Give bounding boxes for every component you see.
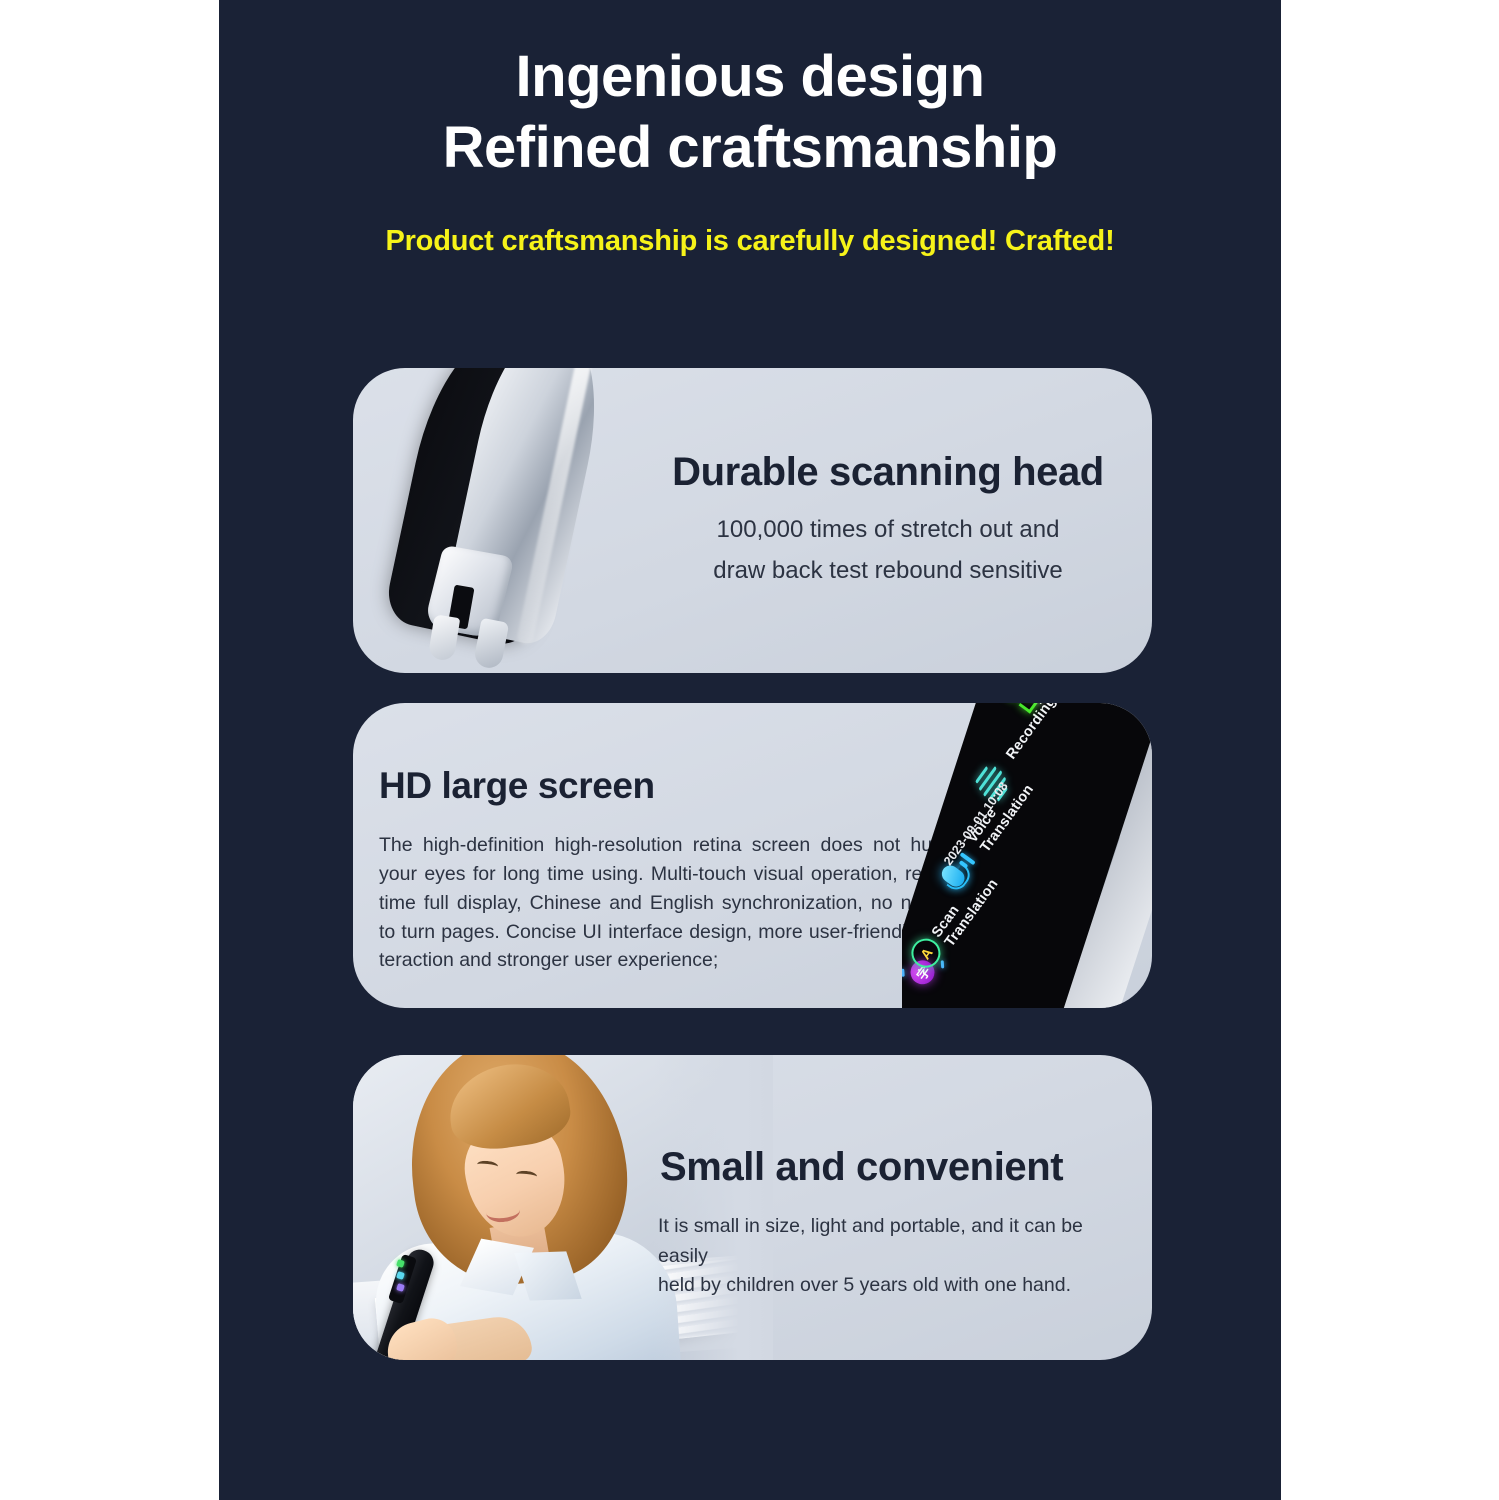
subheadline: Product craftsmanship is carefully desig… <box>219 225 1281 258</box>
feature-card-small-and-convenient: Small and convenient It is small in size… <box>353 1055 1152 1360</box>
card-3-title: Small and convenient <box>660 1145 1136 1190</box>
card-3-text-block: Small and convenient It is small in size… <box>658 1145 1136 1301</box>
scan-translation-icon: 字 A <box>902 936 953 992</box>
card-1-body-line-2: draw back test rebound sensitive <box>653 550 1123 591</box>
translator-pen-screen-image: 字 A Scan Translation Voice Translation <box>902 703 1152 1008</box>
scanning-head-foot-left <box>428 614 461 662</box>
feature-card-hd-large-screen: HD large screen The high-definition high… <box>353 703 1152 1008</box>
card-3-body-line-2: held by children over 5 years old with o… <box>658 1271 1136 1301</box>
card-2-body: The high-definition high-resolution reti… <box>379 831 944 975</box>
card-3-body-line-1: It is small in size, light and portable,… <box>658 1212 1136 1271</box>
card-1-title: Durable scanning head <box>653 450 1123 495</box>
poster-panel: Ingenious design Refined craftsmanship P… <box>219 0 1281 1500</box>
scan-icon-letter: A <box>917 945 934 961</box>
scanning-pen-tip-image <box>353 368 673 673</box>
card-1-body-line-1: 100,000 times of stretch out and <box>653 509 1123 550</box>
headline-line-1: Ingenious design <box>219 42 1281 113</box>
headline-line-2: Refined craftsmanship <box>219 113 1281 184</box>
card-2-title: HD large screen <box>379 765 944 807</box>
card-1-text-block: Durable scanning head 100,000 times of s… <box>653 450 1123 592</box>
headline-block: Ingenious design Refined craftsmanship <box>219 42 1281 184</box>
feature-card-durable-scanning-head: Durable scanning head 100,000 times of s… <box>353 368 1152 673</box>
card-2-text-block: HD large screen The high-definition high… <box>379 765 944 975</box>
